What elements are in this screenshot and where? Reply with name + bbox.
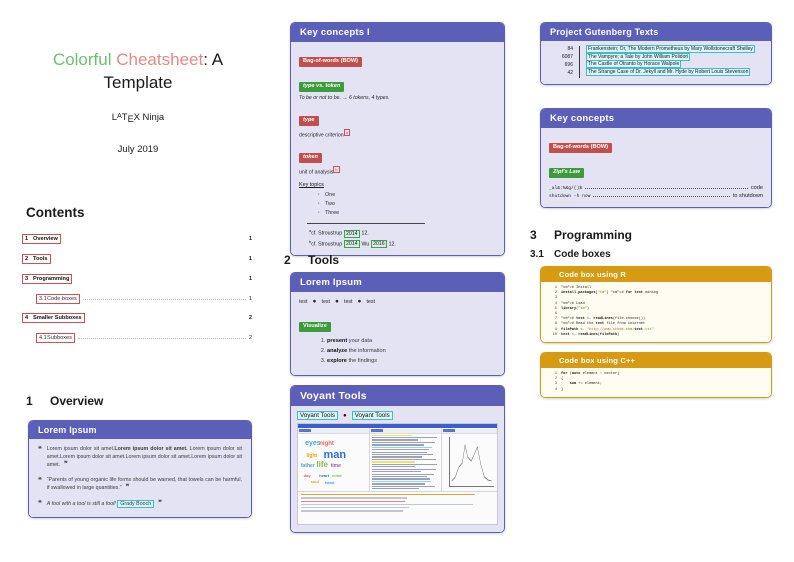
text-line: [372, 464, 437, 465]
description-text: to shutdown: [733, 193, 763, 199]
text-line: [372, 469, 436, 470]
badge-bag-of-words: Bag-of-words (BOW): [549, 143, 612, 154]
text-line: [372, 442, 436, 443]
toc-page-number: 1: [249, 236, 252, 242]
document-date: July 2019: [0, 144, 276, 155]
definition-token-text: unit of analysis: [299, 170, 333, 176]
quote-close-icon: ❞: [64, 461, 68, 469]
screenshot-wordcloud-panel: eyesnightmanfatherlifelighttimedayheartm…: [298, 428, 370, 491]
text-line: [372, 449, 430, 450]
table-row: The Strange Case of Dr. Jekyll and Mr. H…: [586, 69, 763, 77]
dot-list-item: test: [344, 299, 353, 305]
list-item: ❝ A fool with a tool is still a fool! Gr…: [38, 500, 242, 509]
key-concepts-2-box: Key concepts Bag-of-words (BOW) Zipf's L…: [540, 108, 772, 208]
citation-link-grady-booch[interactable]: Grady Booch: [117, 500, 154, 508]
text-line: [372, 456, 422, 457]
gutenberg-box-title: Project Gutenberg Texts: [541, 23, 771, 41]
document-author: LATEX Ninja: [0, 112, 276, 124]
title-word-cheatsheet: Cheatsheet: [116, 50, 203, 69]
text-line: [372, 437, 437, 438]
type-token-example: To be or not to be. → 6 tokens, 4 types.: [299, 95, 496, 101]
panel-line: [301, 494, 475, 495]
toc-page-number: 1: [249, 296, 252, 302]
section-heading-tools: 2Tools: [284, 253, 339, 267]
project-gutenberg-box: Project Gutenberg Texts 84608769642 Fran…: [540, 22, 772, 85]
gutenberg-id: 84: [547, 46, 573, 54]
toc-page-number: 1: [249, 256, 252, 262]
footnote-marker-b[interactable]: b: [333, 166, 339, 173]
bullet-separator-icon: ●: [358, 299, 362, 305]
voyant-tools-box: Voyant Tools Voyant Tools ● Voyant Tools…: [290, 385, 505, 533]
description-row: shutdown -h nowto shutdown: [549, 193, 763, 199]
page-title: Colorful Cheatsheet: A Template: [0, 48, 276, 94]
subsection-number: 3.1: [530, 249, 554, 260]
list-item: Three: [325, 209, 496, 218]
badge-token: token: [299, 153, 322, 164]
voyant-screenshot-image: eyesnightmanfatherlifelighttimedayheartm…: [297, 423, 498, 525]
code-box-cpp-body: 1234 for (auto element : vector){ sum +=…: [541, 368, 771, 397]
cheatsheet-page: Colorful Cheatsheet: A Template LATEX Ni…: [0, 0, 794, 562]
text-line: [372, 454, 434, 455]
quote-open-icon: ❝: [38, 500, 42, 509]
chart-line: [450, 437, 494, 485]
key-concepts-1-body: Bag-of-words (BOW) type vs. token To be …: [291, 42, 504, 255]
subsection-label: Code boxes: [554, 249, 611, 260]
gutenberg-title-link[interactable]: The Strange Case of Dr. Jekyll and Mr. H…: [586, 68, 750, 76]
badge-zipfs-law: Zipf's Law: [549, 168, 584, 179]
section-number: 2: [284, 253, 308, 267]
tools-box-body: test●test●test●test Visualize present yo…: [291, 292, 504, 375]
gutenberg-table: 84608769642 Frankenstein; Or, The Modern…: [547, 46, 763, 78]
subsection-heading-code-boxes: 3.1Code boxes: [530, 249, 611, 260]
voyant-link-1[interactable]: Voyant Tools: [297, 411, 338, 420]
toc-page-number: 1: [249, 276, 252, 282]
word-cloud-word: mind: [332, 474, 342, 478]
word-cloud-word: hand: [325, 481, 335, 485]
toc-entry[interactable]: 3.1Code boxes1: [22, 294, 252, 304]
section-number: 3: [530, 228, 554, 242]
citation-year-link[interactable]: 2014: [344, 230, 361, 238]
code-line: }: [561, 388, 765, 393]
section-label: Programming: [554, 228, 632, 242]
toc-entry[interactable]: 1Overview1: [22, 234, 252, 244]
key-topics-heading: Key topics: [299, 182, 496, 188]
list-item: ❝ Lorem ipsum dolor sit amet.Lorem ipsum…: [38, 446, 242, 470]
dot-separated-list: test●test●test●test: [299, 299, 496, 305]
quote-text-italic: A fool with a tool is still a fool!: [47, 501, 116, 507]
definition-type: descriptive criteriona: [299, 129, 496, 139]
toc-page-number: 2: [249, 315, 252, 321]
key-concepts-2-body: Bag-of-words (BOW) Zipf's Law _al&:%&g/(…: [541, 128, 771, 207]
description-row: _al&:%&g/()$code: [549, 185, 763, 191]
key-concepts-1-title: Key concepts I: [291, 23, 504, 42]
latex-logo: LATEX: [112, 112, 140, 123]
gutenberg-id: 696: [547, 62, 573, 70]
code-line: text <- readLines(filePath): [561, 333, 765, 338]
word-cloud-word: soul: [311, 480, 319, 484]
gutenberg-box-body: 84608769642 Frankenstein; Or, The Modern…: [541, 41, 771, 84]
chart-y-axis: [449, 437, 450, 487]
section-label: Overview: [50, 394, 103, 408]
toc-dot-leader: [83, 299, 246, 300]
overview-quote-box: Lorem Ipsum ❝ Lorem ipsum dolor sit amet…: [28, 420, 252, 518]
badge-visualize: Visualize: [299, 322, 331, 333]
voyant-link-2[interactable]: Voyant Tools: [352, 411, 393, 420]
word-cloud-word: light: [307, 454, 318, 459]
screenshot-panel-row: eyesnightmanfatherlifelighttimedayheartm…: [298, 428, 497, 492]
line-number-gutter: 1234: [547, 372, 561, 393]
title-line-two: Template: [0, 71, 276, 94]
list-item: Two: [325, 200, 496, 209]
quote-close-icon: ❞: [158, 500, 162, 508]
toc-entry[interactable]: 3Programming1: [22, 274, 252, 284]
toc-link-code-boxes[interactable]: 3.1Code boxes: [36, 294, 80, 304]
code-box-cpp: Code box using C++ 1234 for (auto elemen…: [540, 352, 772, 398]
code-box-r: Code box using R 12345678910 "cm"># Inst…: [540, 266, 772, 343]
description-list: _al&:%&g/()$codeshutdown -h nowto shutdo…: [549, 185, 763, 199]
toc-link-tools[interactable]: 2Tools: [22, 254, 51, 264]
tools-lorem-box: Lorem Ipsum test●test●test●test Visualiz…: [290, 272, 505, 376]
panel-line: [301, 507, 409, 508]
text-line: [372, 481, 432, 482]
text-line: [372, 483, 426, 484]
gutenberg-id: 42: [547, 70, 573, 78]
screenshot-trends-panel: [442, 428, 497, 491]
text-line: [372, 486, 435, 487]
dot-list-item: test: [321, 299, 330, 305]
code-lines: for (auto element : vector){ sum += elem…: [561, 372, 765, 393]
toc-link-programming[interactable]: 3Programming: [22, 274, 72, 284]
gutenberg-title-link[interactable]: Frankenstein; Or, The Modern Prometheus …: [586, 45, 755, 53]
quote-text-plain: “Parents of young organic life forms sho…: [47, 477, 242, 492]
text-line: [372, 459, 436, 460]
text-line: [372, 474, 434, 475]
badge-type: type: [299, 116, 319, 127]
text-line: [372, 476, 427, 477]
text-line: [372, 478, 430, 479]
word-cloud-word: heart: [319, 474, 329, 478]
list-item: analyze the information: [327, 346, 496, 356]
voyant-box-title: Voyant Tools: [291, 386, 504, 406]
reader-text-lines: [370, 434, 441, 492]
word-cloud: eyesnightmanfatherlifelighttimedayheartm…: [298, 434, 369, 491]
section-heading-programming: 3Programming: [530, 228, 632, 242]
dot-list-item: test: [299, 299, 308, 305]
code-box-r-body: 12345678910 "cm"># Installinstall.packag…: [541, 282, 771, 342]
voyant-links-row: Voyant Tools ● Voyant Tools: [297, 411, 498, 420]
quote-open-icon: ❝: [38, 477, 42, 493]
document-title-block: Colorful Cheatsheet: A Template LATEX Ni…: [0, 48, 276, 155]
panel-line: [301, 497, 407, 498]
description-term: _al&:%&g/()$: [549, 186, 582, 191]
toc-entry[interactable]: 4Smaller Subboxes2: [22, 313, 252, 323]
quote-text-bold: Lorem ipsum dolor sit amet.: [114, 446, 187, 452]
footnote-a: acf. Stroustrup 2014 12.: [309, 227, 496, 238]
line-number: 4: [547, 388, 557, 393]
key-concepts-2-title: Key concepts: [541, 109, 771, 128]
text-line: [372, 444, 424, 445]
text-line: [372, 461, 415, 462]
section-heading-overview: 1Overview: [26, 394, 103, 408]
screenshot-bottom-panel: [298, 492, 497, 516]
quote-close-icon: ❞: [126, 484, 130, 492]
key-topics-list: OneTwoThree: [299, 191, 496, 218]
toc-entry[interactable]: 4.1Subboxes2: [22, 333, 252, 343]
quote-open-icon: ❝: [38, 446, 42, 470]
text-line: [372, 471, 421, 472]
line-number-gutter: 12345678910: [547, 286, 561, 338]
badge-bag-of-words: Bag-of-words (BOW): [299, 57, 362, 68]
citation-year-link[interactable]: 2016: [371, 240, 388, 248]
key-concepts-1-box: Key concepts I Bag-of-words (BOW) type v…: [290, 22, 505, 256]
table-of-contents: 1Overview12Tools13Programming13.1Code bo…: [22, 234, 252, 352]
word-cloud-word: man: [324, 450, 347, 461]
steps-list: present your dataanalyze the information…: [299, 336, 496, 366]
panel-line: [301, 504, 473, 505]
bullet-separator-icon: ●: [313, 299, 317, 305]
quote-text: A fool with a tool is still a fool! Grad…: [47, 500, 162, 509]
description-term: shutdown -h now: [549, 194, 590, 199]
dot-leader: [585, 188, 748, 189]
list-item: explore the findings: [327, 356, 496, 366]
dot-leader: [593, 196, 729, 197]
badge-type-vs-token: type vs. token: [299, 82, 344, 93]
dot-list-item: test: [366, 299, 375, 305]
tools-box-title: Lorem Ipsum: [291, 273, 504, 292]
quote-text-plain: Lorem ipsum dolor sit amet.: [47, 446, 115, 452]
footnote-rule: [307, 223, 425, 224]
word-cloud-word: father: [301, 464, 315, 469]
text-line: [372, 439, 418, 440]
toc-link-subboxes[interactable]: 4.1Subboxes: [36, 333, 75, 343]
text-line: [372, 466, 415, 467]
panel-line: [301, 501, 405, 502]
bullet-separator-icon: ●: [335, 299, 339, 305]
toc-link-overview[interactable]: 1Overview: [22, 234, 61, 244]
word-cloud-word: time: [331, 464, 341, 469]
footnote-a-post: 12.: [360, 231, 369, 237]
description-text: code: [751, 185, 763, 191]
word-cloud-word: day: [304, 474, 311, 478]
panel-line: [301, 510, 403, 511]
line-number: 10: [547, 333, 557, 338]
overview-box-title: Lorem Ipsum: [29, 421, 251, 439]
text-line: [372, 488, 420, 489]
title-rest: : A: [203, 50, 223, 69]
gutenberg-id: 6087: [547, 54, 573, 62]
code-box-r-title: Code box using R: [541, 267, 771, 282]
definition-type-text: descriptive criterion: [299, 133, 344, 139]
author-name: Ninja: [140, 112, 164, 123]
toc-entry[interactable]: 2Tools1: [22, 254, 252, 264]
code-lines: "cm"># Installinstall.packages("tm") "cm…: [561, 286, 765, 338]
toc-dot-leader: [78, 338, 246, 339]
definition-token: unit of analysisb: [299, 166, 496, 176]
footnote-marker-a[interactable]: a: [344, 129, 350, 136]
gutenberg-title-column: Frankenstein; Or, The Modern Prometheus …: [586, 46, 763, 78]
bullet-separator-icon: ●: [343, 412, 347, 419]
overview-box-body: ❝ Lorem ipsum dolor sit amet.Lorem ipsum…: [29, 439, 251, 517]
list-item: ❝ “Parents of young organic life forms s…: [38, 477, 242, 493]
footnote-b: bcf. Stroustrup 2014 Wu 2016 12.: [309, 238, 496, 249]
contents-heading: Contents: [26, 205, 85, 220]
gutenberg-title-link[interactable]: The Castle of Otranto by Horace Walpole: [586, 60, 681, 68]
text-line: [372, 447, 432, 448]
quote-text: Lorem ipsum dolor sit amet.Lorem ipsum d…: [47, 446, 242, 470]
section-label: Tools: [308, 253, 339, 267]
word-cloud-word: life: [316, 461, 328, 469]
section-number: 1: [26, 394, 50, 408]
chart-x-axis: [449, 486, 494, 487]
code-box-cpp-title: Code box using C++: [541, 353, 771, 368]
word-cloud-word: night: [319, 441, 334, 447]
code-listing: 12345678910 "cm"># Installinstall.packag…: [547, 286, 765, 338]
toc-link-smaller-subboxes[interactable]: 4Smaller Subboxes: [22, 313, 85, 323]
gutenberg-id-column: 84608769642: [547, 46, 573, 78]
text-line: [372, 452, 428, 453]
footnote-b-pre: cf. Stroustrup: [311, 241, 343, 247]
table-divider: [579, 46, 580, 78]
code-listing: 1234 for (auto element : vector){ sum +=…: [547, 372, 765, 393]
footnote-b-post: 12.: [387, 241, 396, 247]
toc-page-number: 2: [249, 335, 252, 341]
footnote-b-mid: Wu: [360, 241, 371, 247]
quote-text: “Parents of young organic life forms sho…: [47, 477, 242, 493]
trends-chart: [442, 434, 497, 492]
voyant-box-body: Voyant Tools ● Voyant Tools eyesnightman…: [291, 406, 504, 532]
citation-year-link[interactable]: 2014: [344, 240, 361, 248]
list-item: present your data: [327, 336, 496, 346]
footnote-a-pre: cf. Stroustrup: [311, 231, 343, 237]
list-item: One: [325, 191, 496, 200]
screenshot-reader-panel: [370, 428, 442, 491]
title-word-colorful: Colorful: [53, 50, 112, 69]
text-line: [372, 435, 412, 436]
